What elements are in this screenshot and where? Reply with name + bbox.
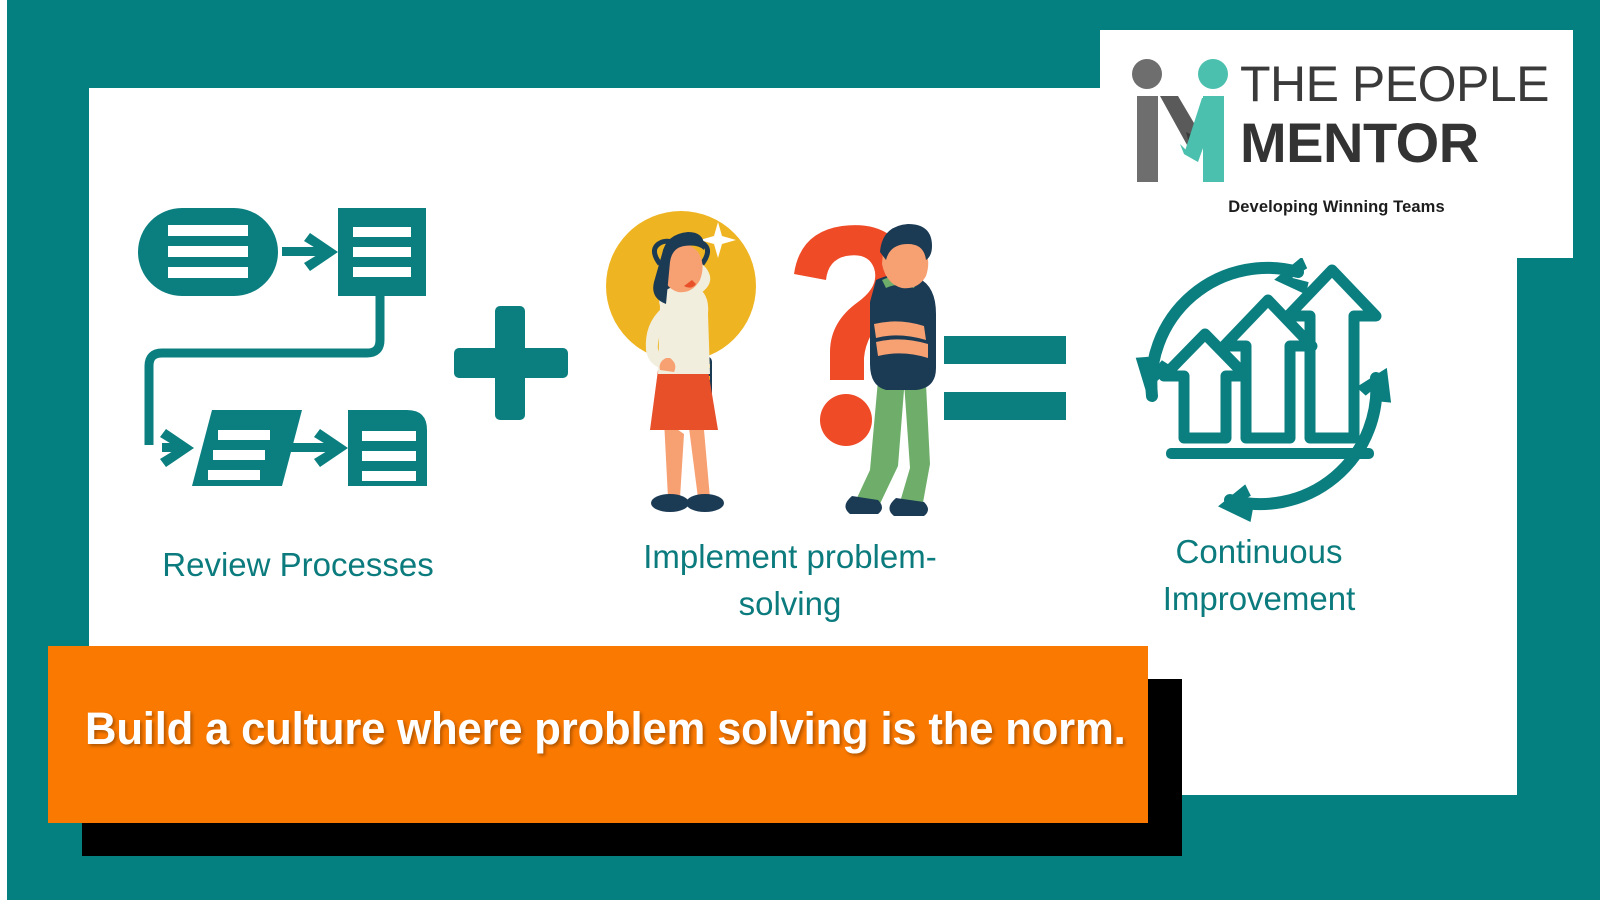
plus-sign-icon <box>452 302 570 424</box>
logo-line-the-people: THE PEOPLE <box>1240 56 1560 112</box>
caption-review-processes-text: Review Processes <box>162 546 433 583</box>
caption-implement-line2: solving <box>625 580 955 627</box>
poster-canvas: Review Processes Implement problem- solv… <box>0 0 1600 900</box>
flowchart-icon <box>124 195 444 490</box>
logo-wordmark: THE PEOPLE MENTOR <box>1240 56 1560 174</box>
caption-continuous-line1: Continuous <box>1120 528 1398 575</box>
logo-lockup: THE PEOPLE MENTOR <box>1118 54 1558 182</box>
banner-message-text: Build a culture where problem solving is… <box>85 703 1104 755</box>
equals-sign-icon <box>944 336 1066 426</box>
caption-continuous-improvement: Continuous Improvement <box>1120 528 1398 622</box>
lightbulb-person-icon <box>588 198 774 520</box>
logo-line-mentor: MENTOR <box>1240 112 1560 174</box>
growth-cycle-icon <box>1108 238 1420 530</box>
logo-tagline: Developing Winning Teams <box>1100 198 1573 217</box>
caption-review-processes: Review Processes <box>118 541 478 588</box>
caption-continuous-line2: Improvement <box>1120 575 1398 622</box>
message-banner: Build a culture where problem solving is… <box>48 646 1148 823</box>
people-mentor-m-logo-icon <box>1118 54 1243 182</box>
caption-implement-problem-solving: Implement problem- solving <box>625 533 955 627</box>
caption-implement-line1: Implement problem- <box>625 533 955 580</box>
question-person-icon <box>778 218 954 520</box>
logo-box: THE PEOPLE MENTOR Developing Winning Tea… <box>1100 30 1573 258</box>
